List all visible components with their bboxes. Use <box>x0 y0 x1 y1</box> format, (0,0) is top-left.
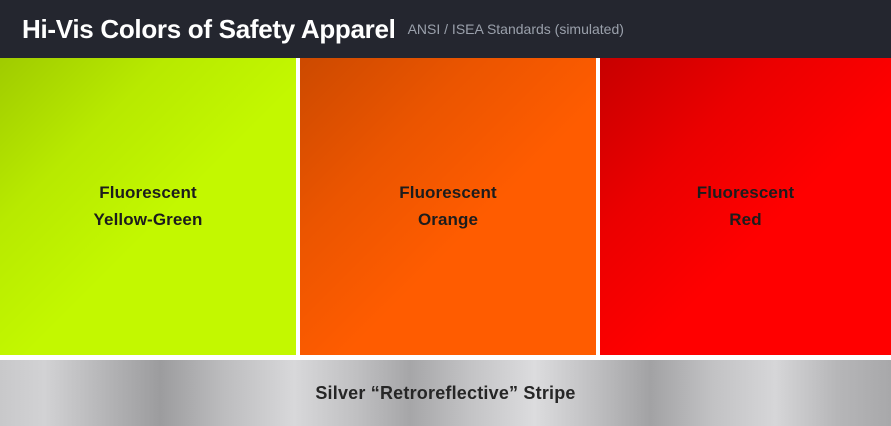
swatch-label: Fluorescent Red <box>697 180 794 233</box>
swatch-fluorescent-red[interactable]: Fluorescent Red <box>600 58 891 355</box>
silver-retroreflective-stripe[interactable]: Silver “Retroreflective” Stripe <box>0 360 891 426</box>
hi-vis-color-board: Hi-Vis Colors of Safety Apparel ANSI / I… <box>0 0 891 426</box>
swatch-label: Fluorescent Orange <box>399 180 496 233</box>
header-bar: Hi-Vis Colors of Safety Apparel ANSI / I… <box>0 0 891 58</box>
header-subtitle: ANSI / ISEA Standards (simulated) <box>408 22 624 37</box>
swatch-row: Fluorescent Yellow-Green Fluorescent Ora… <box>0 58 891 355</box>
page-title: Hi-Vis Colors of Safety Apparel <box>22 16 396 42</box>
stripe-label: Silver “Retroreflective” Stripe <box>315 383 575 404</box>
swatch-fluorescent-orange[interactable]: Fluorescent Orange <box>300 58 596 355</box>
swatch-label: Fluorescent Yellow-Green <box>94 180 203 233</box>
swatch-fluorescent-yellow-green[interactable]: Fluorescent Yellow-Green <box>0 58 296 355</box>
